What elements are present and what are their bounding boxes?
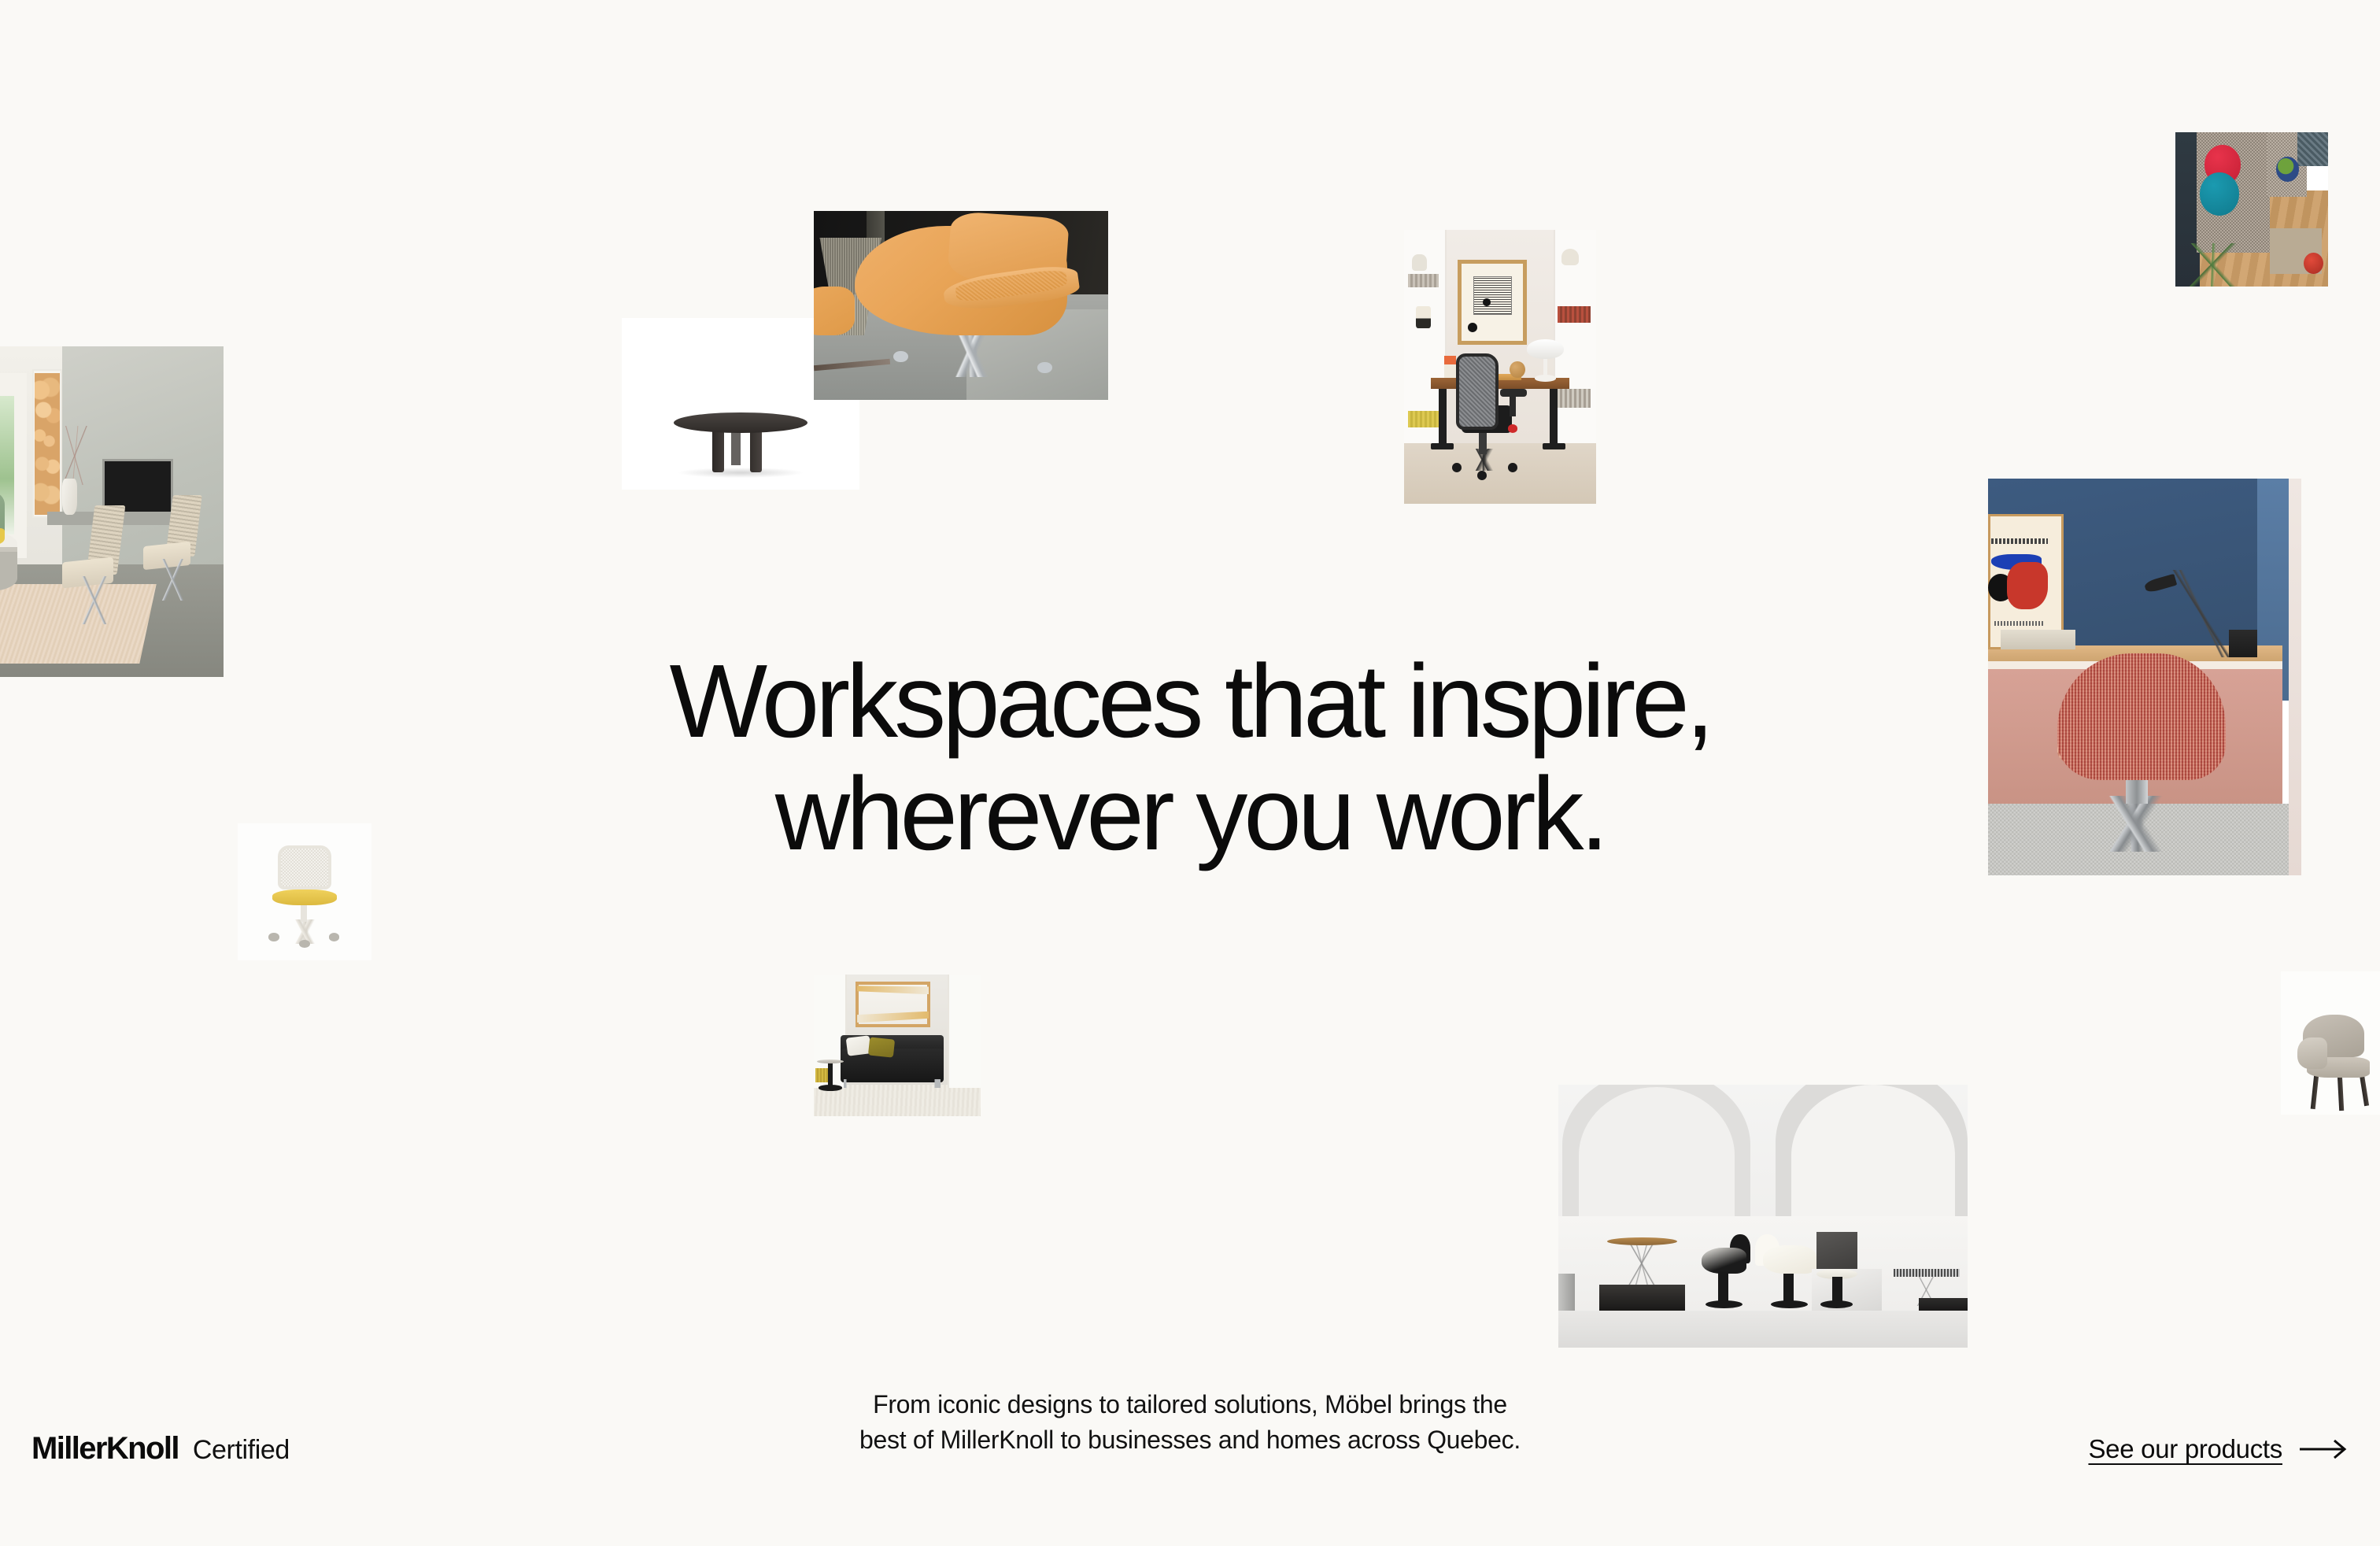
collage-image-black-sofa	[814, 975, 981, 1116]
collage-image-living-room	[0, 346, 224, 677]
millerknoll-wordmark: MillerKnoll	[31, 1431, 179, 1466]
collage-image-executive-chair	[2281, 971, 2380, 1115]
collage-image-orange-lounge-chair	[814, 211, 1108, 400]
certified-label: Certified	[193, 1435, 290, 1466]
headline-line-1: Workspaces that inspire,	[0, 645, 2380, 758]
see-our-products-link[interactable]: See our products	[2088, 1434, 2349, 1464]
description-line-2: best of MillerKnoll to businesses and ho…	[757, 1422, 1623, 1458]
collage-image-overhead-textile	[2175, 132, 2328, 287]
arrow-right-icon	[2300, 1439, 2349, 1459]
cta-label: See our products	[2088, 1434, 2282, 1464]
hero-description: From iconic designs to tailored solution…	[757, 1387, 1623, 1459]
brand-lockup: MillerKnoll Certified	[31, 1431, 290, 1466]
collage-image-home-office	[1404, 230, 1596, 504]
hero-page: Workspaces that inspire, wherever you wo…	[0, 0, 2380, 1546]
collage-image-white-showroom	[1558, 1085, 1968, 1348]
description-line-1: From iconic designs to tailored solution…	[757, 1387, 1623, 1422]
headline-line-2: wherever you work.	[0, 758, 2380, 871]
page-title: Workspaces that inspire, wherever you wo…	[0, 645, 2380, 870]
